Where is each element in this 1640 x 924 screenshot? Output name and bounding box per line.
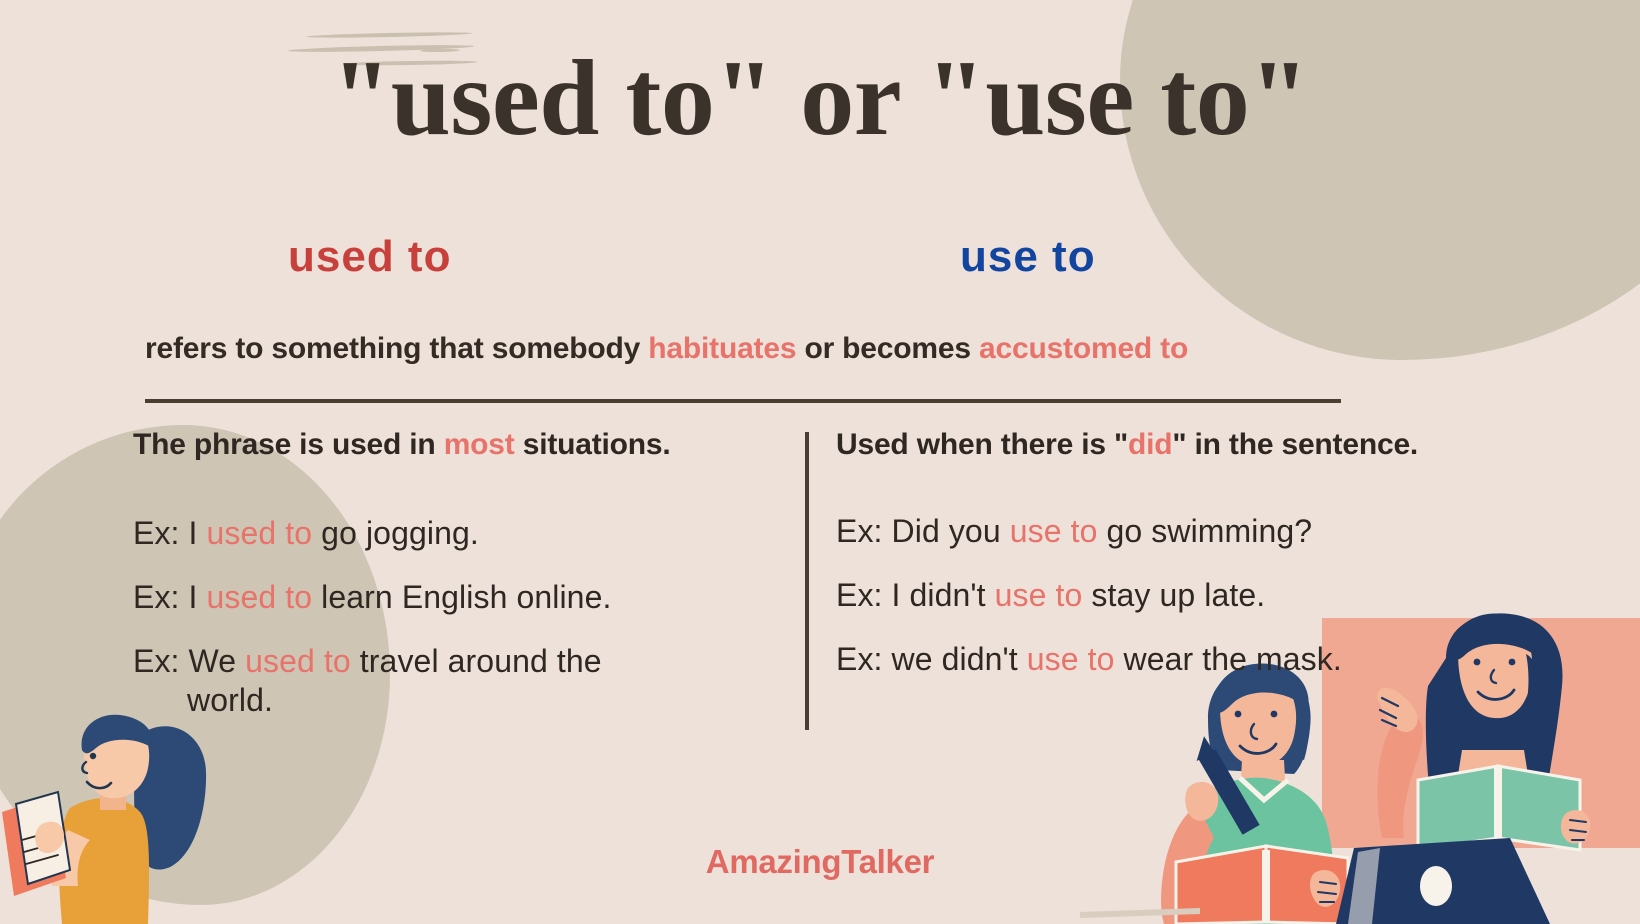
example-highlight: used to <box>207 579 313 615</box>
example-item: Ex: Did you use to go swimming? <box>836 512 1536 551</box>
definition-text-2: or becomes <box>796 332 979 365</box>
right-title-highlight-did: did <box>1128 428 1172 461</box>
example-suffix: stay up late. <box>1082 577 1265 613</box>
column-use-to: Used when there is "did" in the sentence… <box>836 428 1536 704</box>
example-highlight: used to <box>245 643 351 679</box>
definition-highlight-accustomed-to: accustomed to <box>979 332 1188 365</box>
horizontal-divider <box>145 399 1341 403</box>
example-item: Ex: I used to go jogging. <box>133 514 783 553</box>
definition-line: refers to something that somebody habitu… <box>145 332 1341 366</box>
vertical-divider <box>805 432 809 730</box>
example-prefix: Ex: we didn't <box>836 641 1027 677</box>
definition-highlight-habituates: habituates <box>648 332 796 365</box>
example-highlight: use to <box>1010 513 1098 549</box>
example-prefix: Ex: Did you <box>836 513 1010 549</box>
example-suffix: travel around the <box>351 643 602 679</box>
brush-stroke-icon <box>306 31 472 38</box>
example-continuation: world. <box>133 681 783 720</box>
heading-use-to: use to <box>960 232 1096 282</box>
heading-used-to: used to <box>288 232 451 282</box>
definition-text-1: refers to something that somebody <box>145 332 648 365</box>
example-prefix: Ex: We <box>133 643 245 679</box>
left-title-text-2: situations. <box>515 428 671 461</box>
column-headings: used to use to <box>0 232 1640 302</box>
example-item: Ex: I didn't use to stay up late. <box>836 576 1536 615</box>
left-title-highlight-most: most <box>444 428 515 461</box>
brand-logo-text: AmazingTalker <box>0 843 1640 881</box>
example-highlight: use to <box>995 577 1083 613</box>
example-suffix: go swimming? <box>1098 513 1313 549</box>
example-suffix: learn English online. <box>312 579 611 615</box>
example-suffix: go jogging. <box>312 515 479 551</box>
infographic-poster: "used to" or "use to" used to use to ref… <box>0 0 1640 924</box>
example-highlight: use to <box>1027 641 1115 677</box>
example-item: Ex: we didn't use to wear the mask. <box>836 640 1536 679</box>
example-highlight: used to <box>207 515 313 551</box>
page-title: "used to" or "use to" <box>0 42 1640 155</box>
example-prefix: Ex: I <box>133 579 207 615</box>
example-prefix: Ex: I didn't <box>836 577 995 613</box>
left-title-text-1: The phrase is used in <box>133 428 444 461</box>
example-prefix: Ex: I <box>133 515 207 551</box>
right-title-text-1: Used when there is " <box>836 428 1128 461</box>
example-item: Ex: I used to learn English online. <box>133 578 783 617</box>
left-column-title: The phrase is used in most situations. <box>133 428 783 462</box>
right-title-text-2: " in the sentence. <box>1172 428 1418 461</box>
right-column-title: Used when there is "did" in the sentence… <box>836 428 1536 462</box>
example-item: Ex: We used to travel around theworld. <box>133 642 783 720</box>
example-suffix: wear the mask. <box>1115 641 1342 677</box>
column-used-to: The phrase is used in most situations. E… <box>133 428 783 745</box>
